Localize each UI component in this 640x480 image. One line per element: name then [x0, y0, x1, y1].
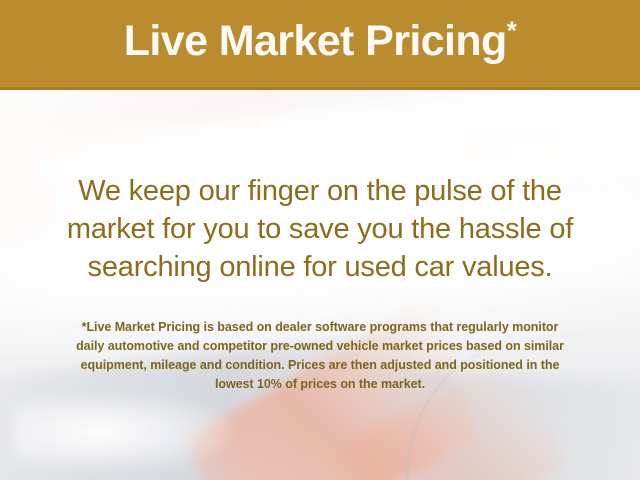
headline-line-1: We keep our finger on the pulse of the: [26, 172, 614, 210]
page-title: Live Market Pricing*: [124, 20, 516, 67]
headline-block: We keep our finger on the pulse of the m…: [0, 172, 640, 286]
page-title-text: Live Market Pricing: [124, 17, 507, 65]
disclaimer-line-1: *Live Market Pricing is based on dealer …: [30, 318, 610, 337]
live-market-pricing-slide: Live Market Pricing* We keep our finger …: [0, 0, 640, 480]
headline-line-2: market for you to save you the hassle of: [26, 210, 614, 248]
disclaimer-line-3: equipment, mileage and condition. Prices…: [30, 356, 610, 375]
page-title-asterisk: *: [507, 16, 517, 46]
header-banner: Live Market Pricing*: [0, 0, 640, 90]
disclaimer-block: *Live Market Pricing is based on dealer …: [0, 318, 640, 394]
disclaimer-line-2: daily automotive and competitor pre-owne…: [30, 337, 610, 356]
disclaimer-line-4: lowest 10% of prices on the market.: [30, 375, 610, 394]
headline-line-3: searching online for used car values.: [26, 248, 614, 286]
